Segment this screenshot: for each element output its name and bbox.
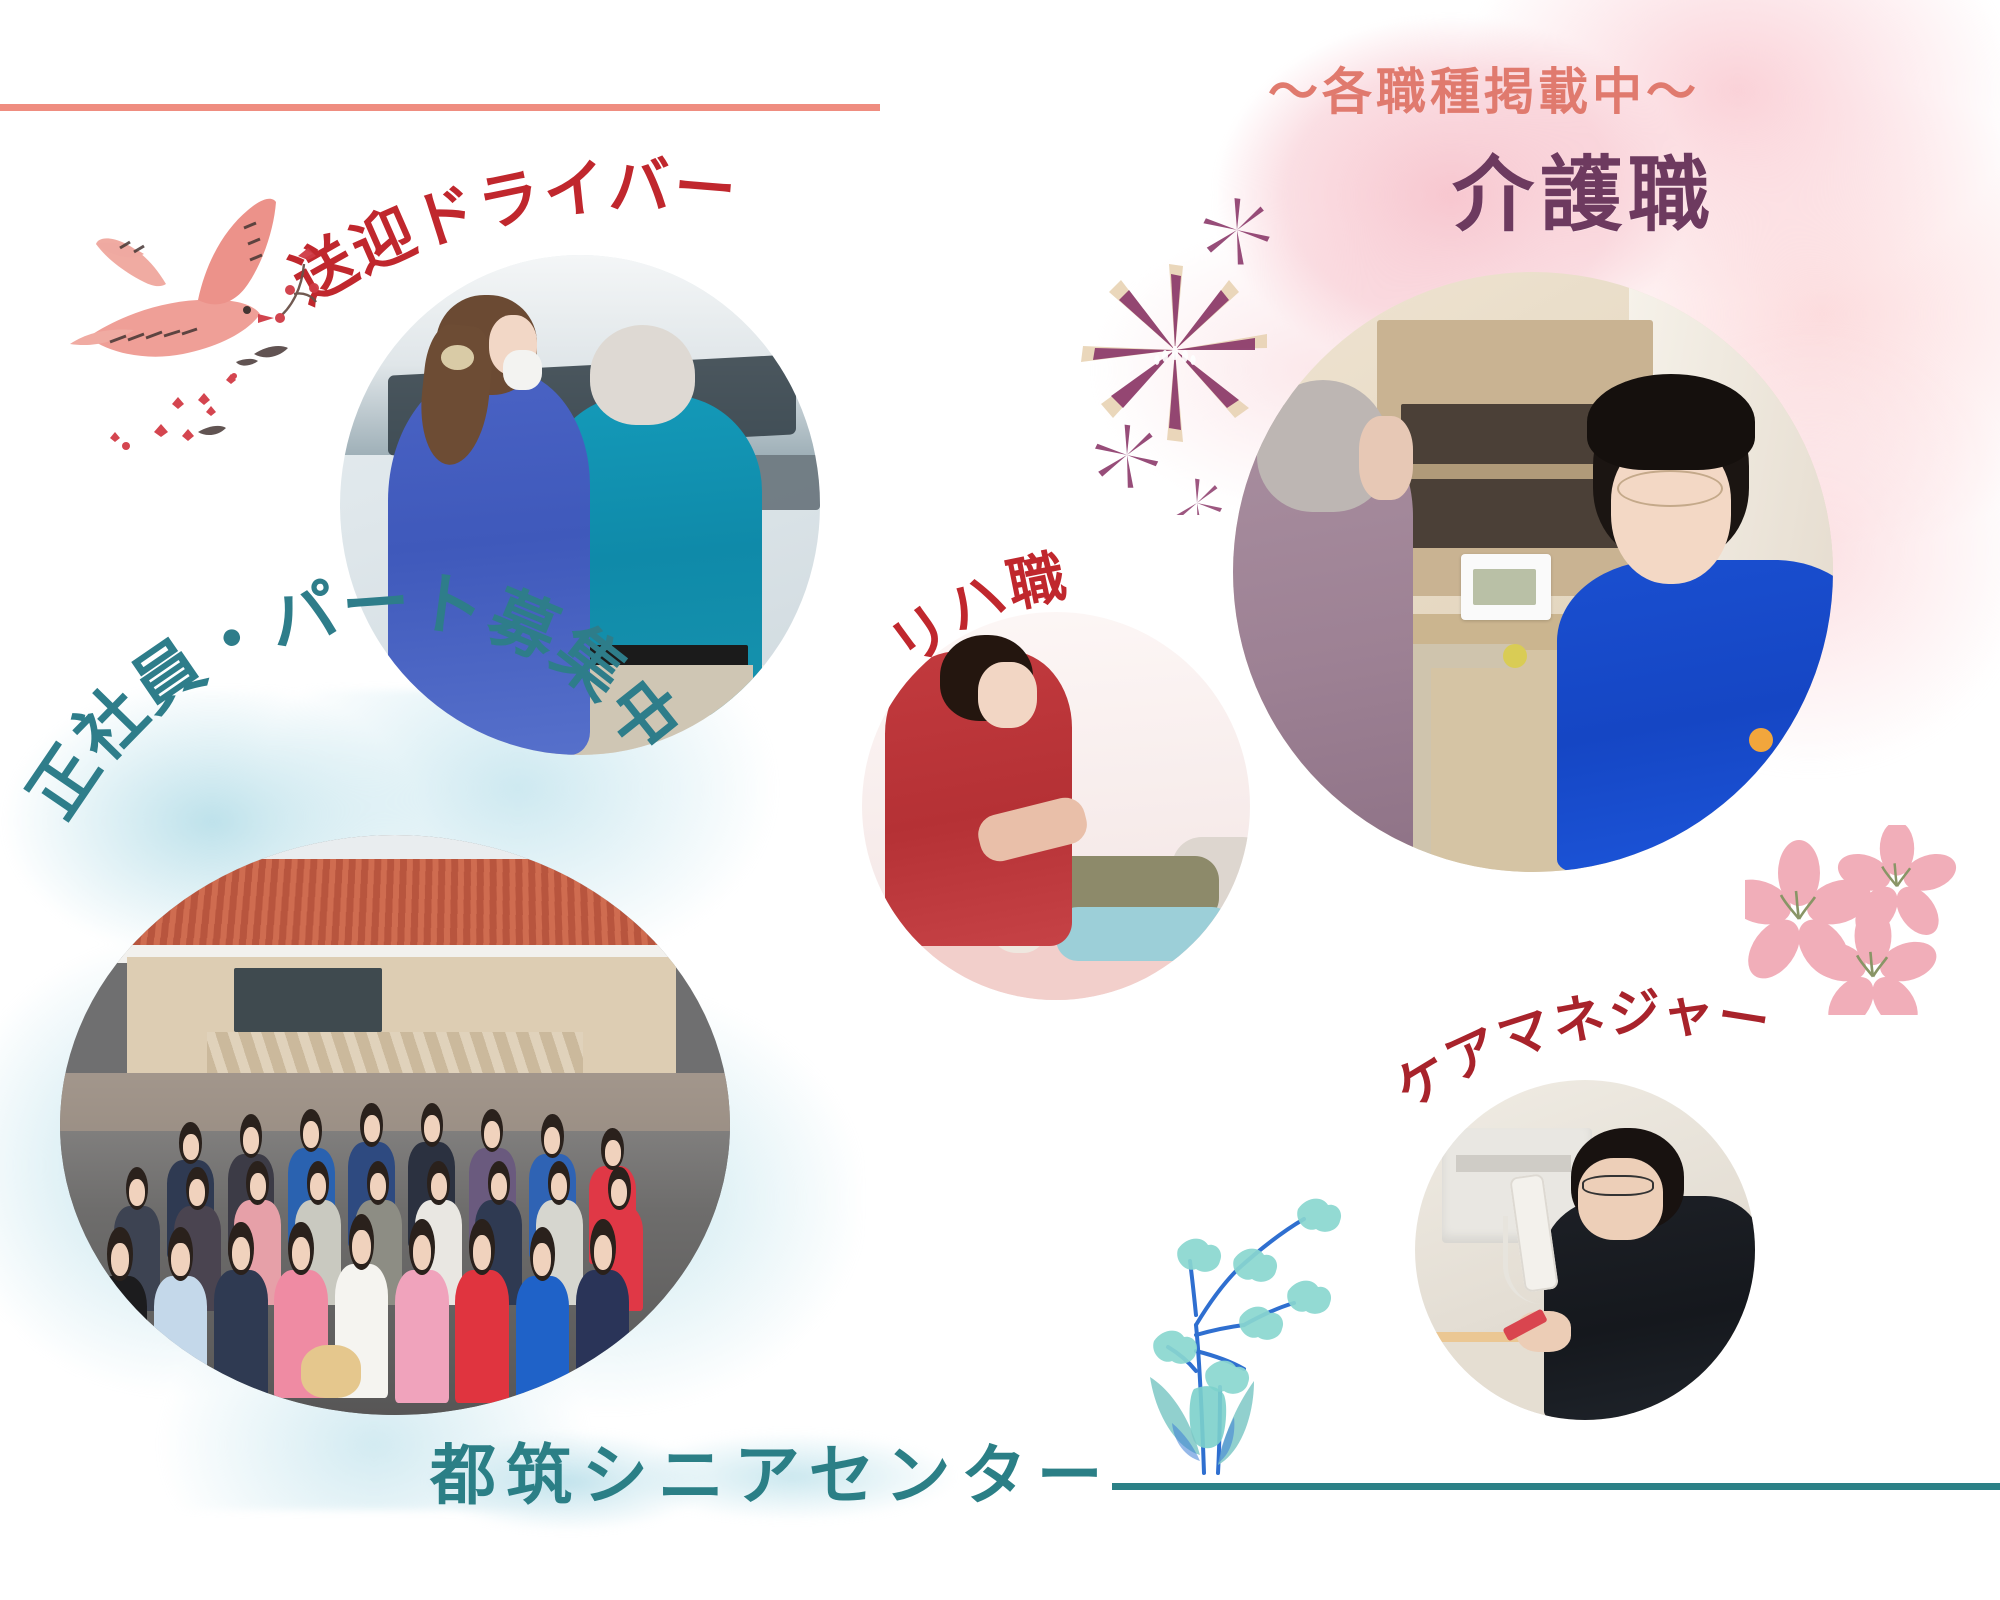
rehabilitation-photo <box>862 612 1250 1000</box>
blue-sprig-illustration <box>1138 1165 1388 1475</box>
top-divider-line <box>0 104 880 111</box>
page-title: 介護職 <box>1452 128 1716 247</box>
poster-canvas: 〜各職種掲載中〜 介護職 送迎ドライバー リハ職 ケアマネジャー <box>0 0 2000 1600</box>
bird-illustration <box>48 132 328 452</box>
bottom-divider-line <box>1112 1483 2000 1490</box>
care-manager-photo <box>1415 1080 1755 1420</box>
organization-name: 都筑シニアセンター <box>430 1422 1113 1518</box>
group-staff-photo <box>60 835 730 1415</box>
driver-photo <box>340 255 820 755</box>
tagline-text: 〜各職種掲載中〜 <box>1268 52 1700 124</box>
care-staff-photo <box>1233 272 1833 872</box>
